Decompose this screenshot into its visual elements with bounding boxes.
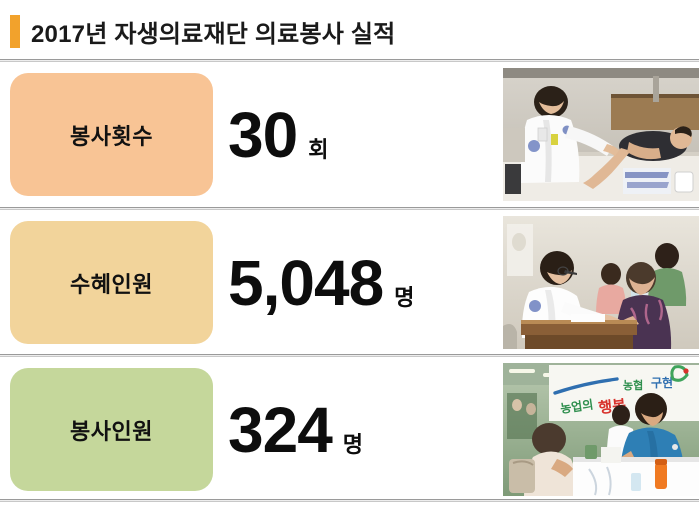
stat-label-pill: 수혜인원 bbox=[10, 221, 213, 344]
photo-doctor-consulting-patient bbox=[503, 216, 699, 349]
stat-unit: 명 bbox=[394, 287, 414, 309]
stat-unit: 명 bbox=[343, 434, 363, 456]
stat-row: 수혜인원 5,048 명 bbox=[0, 210, 699, 354]
stat-row: 봉사횟수 30 회 bbox=[0, 62, 699, 207]
stat-value: 5,048 bbox=[228, 251, 383, 315]
page-title: 2017년 자생의료재단 의료봉사 실적 bbox=[31, 14, 395, 49]
svg-text:농협: 농협 bbox=[623, 378, 643, 392]
photo-volunteer-medical-booth: 농협 구현 농업의 행복 bbox=[503, 363, 699, 496]
stat-value: 30 bbox=[228, 103, 297, 167]
stat-label: 수혜인원 bbox=[70, 267, 153, 299]
stat-value: 324 bbox=[228, 398, 332, 462]
divider-bottom bbox=[0, 499, 699, 502]
page-header: 2017년 자생의료재단 의료봉사 실적 bbox=[0, 0, 699, 62]
stat-value-group: 5,048 명 bbox=[228, 221, 496, 344]
stat-label: 봉사인원 bbox=[70, 414, 153, 446]
stat-value-group: 30 회 bbox=[228, 73, 496, 196]
infographic-page: 2017년 자생의료재단 의료봉사 실적 봉사횟수 30 회 bbox=[0, 0, 699, 509]
stat-value-group: 324 명 bbox=[228, 368, 496, 491]
stat-label-pill: 봉사인원 bbox=[10, 368, 213, 491]
stat-unit: 회 bbox=[308, 139, 328, 161]
stat-label: 봉사횟수 bbox=[70, 119, 153, 151]
title-accent-bar bbox=[10, 15, 20, 48]
svg-text:구현: 구현 bbox=[651, 375, 673, 390]
photo-doctor-treating-knee bbox=[503, 68, 699, 201]
stat-row: 봉사인원 324 명 bbox=[0, 357, 699, 499]
stat-label-pill: 봉사횟수 bbox=[10, 73, 213, 196]
